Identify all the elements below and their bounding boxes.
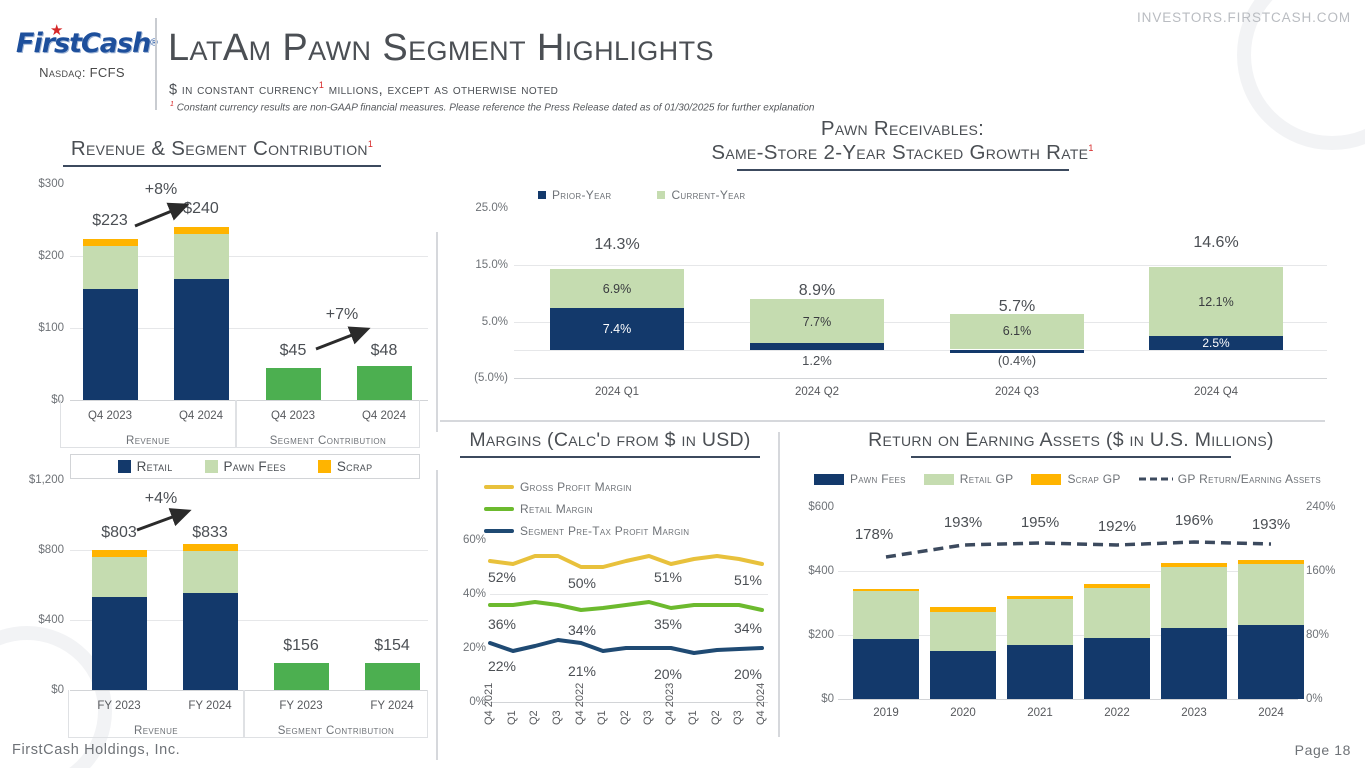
growth-label-segment-contribution: +7% [326, 306, 358, 324]
bar-total-fy-2023-sc: $156 [283, 637, 319, 655]
header-divider [155, 18, 157, 110]
bar-total-q2: 8.9% [799, 282, 835, 300]
gp-return-line [786, 430, 1356, 730]
group-label-segment-contribution: Segment Contribution [236, 435, 420, 447]
label-q3-prior: (0.4%) [998, 353, 1036, 368]
x-label-q4-2023-sc: Q4 2023 [253, 410, 333, 422]
x-label-fy-2024-sc: FY 2024 [352, 700, 432, 712]
y-tick-300: $300 [8, 178, 64, 190]
bar-q4-2024-revenue[interactable] [174, 227, 229, 400]
nasdaq-ticker: Nasdaq: FCFS [16, 65, 148, 80]
y-tick-neg5: (5.0%) [450, 372, 508, 384]
x-label-margins-10: Q2 [710, 710, 722, 725]
gp-return-label-2022: 192% [1098, 518, 1136, 535]
segment-scrap [183, 544, 238, 551]
segment-prior-year [750, 343, 884, 350]
gridline-zero [514, 350, 1327, 351]
group-label-segment-contribution-annual: Segment Contribution [244, 725, 428, 737]
bar-fy-2023-segment-contribution[interactable] [274, 663, 329, 690]
gp-return-label-2021: 195% [1021, 514, 1059, 531]
point-label-rm-12: 34% [734, 620, 762, 636]
panel-return-on-earning-assets: Return on Earning Assets ($ in U.S. Mill… [786, 430, 1356, 755]
point-label-sptm-12: 20% [734, 666, 762, 682]
logo-star-icon: ★ [50, 23, 63, 38]
group-label-revenue-annual: Revenue [68, 725, 244, 737]
panel-margins: Margins (Calc'd from $ in USD) Gross Pro… [442, 430, 778, 765]
x-label-2023: 2023 [1154, 707, 1234, 719]
inlabel-q3-current: 6.1% [1003, 324, 1032, 338]
bar-total-fy-2024-sc: $154 [374, 637, 410, 655]
point-label-gpm-0: 52% [488, 569, 516, 585]
x-label-2024: 2024 [1231, 707, 1311, 719]
line-retail-margin [490, 602, 762, 610]
gp-return-label-2020: 193% [944, 514, 982, 531]
page-title: LatAm Pawn Segment Highlights [168, 27, 714, 70]
gp-return-label-2023: 196% [1175, 512, 1213, 529]
bar-total-q4-2023-sc: $45 [280, 342, 307, 360]
x-label-fy-2024-rev: FY 2024 [170, 700, 250, 712]
segment-scrap [83, 239, 138, 246]
x-label-margins-5: Q1 [596, 710, 608, 725]
group-label-revenue: Revenue [60, 435, 236, 447]
inlabel-q4-prior: 2.5% [1202, 336, 1229, 350]
y-tick-25: 25.0% [450, 202, 508, 214]
x-label-margins-6: Q2 [619, 710, 631, 725]
line-segment-pretax-profit-margin [490, 640, 762, 653]
plot-quarterly-revenue: $300 $200 $100 $0 $223 $240 +8% [8, 138, 436, 478]
x-label-margins-1: Q1 [506, 710, 518, 725]
x-label-margins-0: Q4 2021 [483, 683, 495, 725]
segment-pawn-fees [92, 557, 147, 597]
divider-left-right-top [436, 232, 438, 432]
segment-pawn-fees [83, 246, 138, 289]
inlabel-q1-prior: 7.4% [603, 322, 632, 336]
subtitle-post: millions, except as otherwise noted [324, 82, 558, 98]
plot-roea: $600 $400 $200 $0 240% 160% 80% 0% [786, 430, 1356, 755]
footer-company-name: FirstCash Holdings, Inc. [12, 742, 180, 758]
panel-pawn-receivables: Pawn Receivables: Same-Store 2-Year Stac… [450, 118, 1355, 418]
gp-return-label-2024: 193% [1252, 516, 1290, 533]
y-tick-15: 15.0% [450, 259, 508, 271]
label-q2-prior: 1.2% [802, 353, 832, 368]
growth-arrow-revenue [132, 198, 194, 232]
x-label-2020: 2020 [923, 707, 1003, 719]
footnote-text: Constant currency results are non-GAAP f… [177, 102, 815, 113]
x-label-fy-2023-sc: FY 2023 [261, 700, 341, 712]
subtitle-pre: $ in constant currency [169, 82, 319, 98]
x-label-q4-2024-rev: Q4 2024 [161, 410, 241, 422]
point-label-gpm-4: 50% [568, 575, 596, 591]
line-gross-profit-margin [490, 556, 762, 567]
x-label-2024-q2: 2024 Q2 [767, 386, 867, 398]
segment-retail [83, 289, 138, 400]
logo-wordmark: FirstCash [16, 28, 150, 59]
y-tick-5: 5.0% [450, 316, 508, 328]
bar-fy-2024-revenue[interactable] [183, 544, 238, 690]
x-label-margins-2: Q2 [528, 710, 540, 725]
inlabel-q4-current: 12.1% [1198, 295, 1233, 309]
panel-quarterly-revenue: Revenue & Segment Contribution1 $300 $20… [8, 138, 436, 478]
bar-fy-2023-revenue[interactable] [92, 550, 147, 690]
page-subtitle: $ in constant currency1 millions, except… [169, 80, 558, 98]
segment-retail [174, 279, 229, 400]
footnote-superscript: 1 [170, 101, 174, 108]
plot-annual-revenue: $1,200 $800 $400 $0 $803 $833 +4% [8, 462, 436, 762]
slide-root: INVESTORS.FIRSTCASH.COM ★ FirstCash® Nas… [0, 0, 1365, 768]
growth-label-revenue: +8% [145, 181, 177, 199]
point-label-rm-8: 35% [654, 616, 682, 632]
segment-pawn-fees [183, 551, 238, 593]
bar-total-q3: 5.7% [999, 298, 1035, 316]
y-tick-0: $0 [8, 394, 64, 406]
segment-pawn-fees [174, 234, 229, 279]
x-label-q4-2023-rev: Q4 2023 [70, 410, 150, 422]
plot-pawn-receivables: 25.0% 15.0% 5.0% (5.0%) 6.9% 7.4% 14.3% … [450, 118, 1355, 418]
inlabel-q1-current: 6.9% [603, 282, 632, 296]
bar-total-q1: 14.3% [594, 236, 639, 254]
x-label-margins-12: Q4 2024 [755, 683, 767, 725]
x-label-2024-q3: 2024 Q3 [967, 386, 1067, 398]
y-tick-1200: $1,200 [8, 474, 64, 486]
y-tick-800: $800 [8, 544, 64, 556]
bar-q4-2023-revenue[interactable] [83, 239, 138, 400]
point-label-rm-0: 36% [488, 616, 516, 632]
divider-left-right-bottom [436, 470, 438, 760]
x-label-margins-9: Q1 [687, 710, 699, 725]
x-label-margins-11: Q3 [732, 710, 744, 725]
segment-scrap [92, 550, 147, 557]
point-label-sptm-0: 22% [488, 658, 516, 674]
x-label-2024-q4: 2024 Q4 [1166, 386, 1266, 398]
x-label-margins-4: Q4 2022 [574, 683, 586, 725]
firstcash-logo: ★ FirstCash® [16, 28, 158, 59]
gridline-15 [514, 265, 1327, 266]
x-label-margins-7: Q3 [642, 710, 654, 725]
point-label-gpm-8: 51% [654, 569, 682, 585]
gp-return-label-2019: 178% [855, 526, 893, 543]
y-tick-100: $100 [8, 322, 64, 334]
y-tick-0: $0 [8, 684, 64, 696]
x-label-2022: 2022 [1077, 707, 1157, 719]
investor-site-url[interactable]: INVESTORS.FIRSTCASH.COM [1137, 10, 1351, 25]
x-label-2024-q1: 2024 Q1 [567, 386, 667, 398]
bar-q4-2024-segment-contribution[interactable] [357, 366, 412, 400]
divider-horizontal-right [440, 420, 1325, 422]
x-label-2021: 2021 [1000, 707, 1080, 719]
growth-arrow-revenue-annual [134, 506, 196, 536]
point-label-sptm-8: 20% [654, 666, 682, 682]
divider-margins-roea [778, 432, 780, 737]
bar-total-fy-2023-revenue: $803 [101, 524, 137, 542]
plot-margins: 60% 40% 20% 0% 52% 50% 51% 51% 36% 34% 3… [442, 430, 778, 765]
segment-retail [183, 593, 238, 690]
axis-baseline [514, 378, 1327, 379]
point-label-gpm-12: 51% [734, 572, 762, 588]
panel-annual-revenue: $1,200 $800 $400 $0 $803 $833 +4% [8, 462, 436, 762]
point-label-rm-4: 34% [568, 622, 596, 638]
x-label-margins-8: Q4 2023 [664, 683, 676, 725]
bar-total-q4-2023-revenue: $223 [92, 212, 128, 230]
x-label-2019: 2019 [846, 707, 926, 719]
growth-arrow-segment-contribution [313, 324, 375, 354]
segment-retail [92, 597, 147, 690]
y-tick-400: $400 [8, 614, 64, 626]
bar-total-q4: 14.6% [1193, 234, 1238, 252]
page-footnote: 1 Constant currency results are non-GAAP… [170, 101, 814, 113]
inlabel-q2-current: 7.7% [803, 315, 832, 329]
x-label-fy-2023-rev: FY 2023 [79, 700, 159, 712]
bar-total-fy-2024-revenue: $833 [192, 524, 228, 542]
footer-page-number: Page 18 [1295, 742, 1351, 758]
bar-q4-2023-segment-contribution[interactable] [266, 368, 321, 400]
y-tick-200: $200 [8, 250, 64, 262]
point-label-sptm-4: 21% [568, 663, 596, 679]
x-label-margins-3: Q3 [551, 710, 563, 725]
x-label-q4-2024-sc: Q4 2024 [344, 410, 424, 422]
firstcash-logo-block: ★ FirstCash® Nasdaq: FCFS [16, 28, 148, 80]
bar-fy-2024-segment-contribution[interactable] [365, 663, 420, 690]
